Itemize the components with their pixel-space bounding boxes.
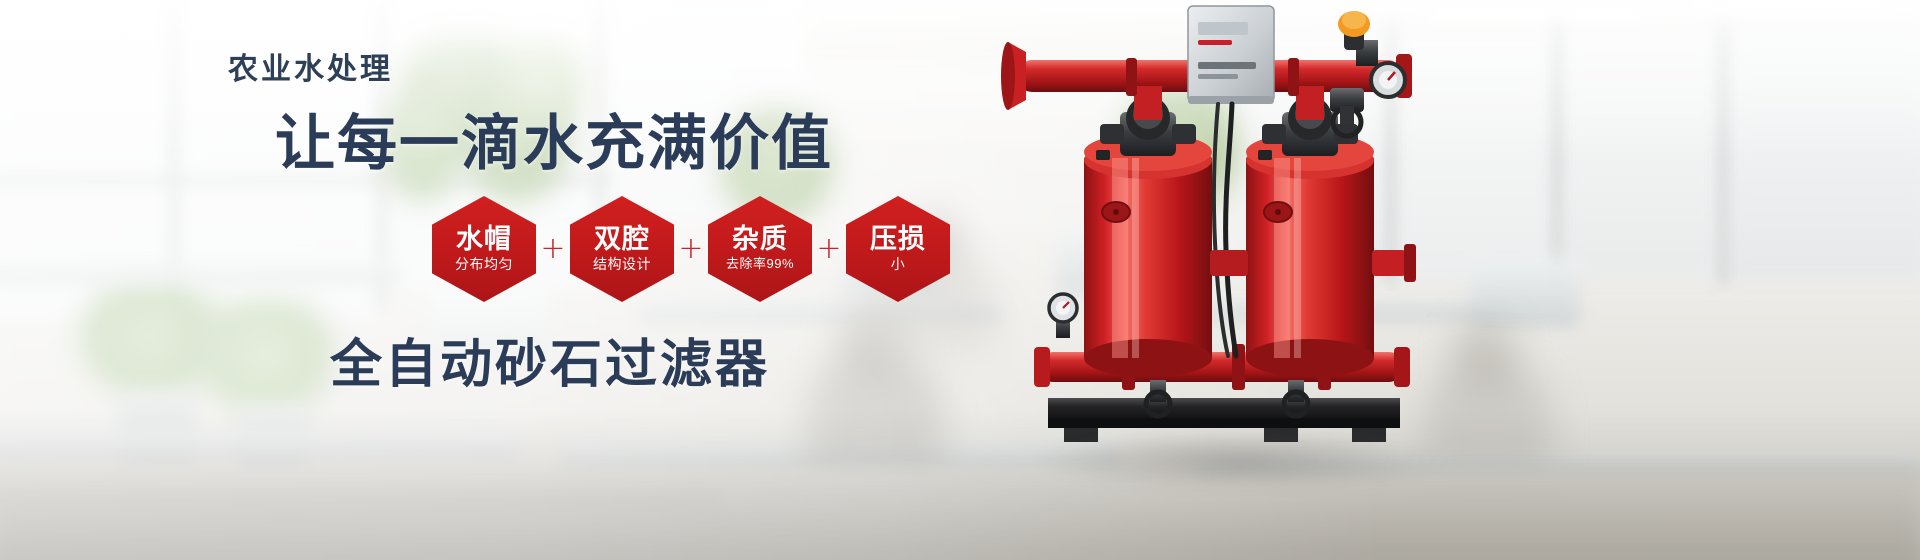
feature-badge-row: 水帽 分布均匀 + 双腔 结构设计 + 杂质 去除率99% + 压损 小 xyxy=(432,196,950,302)
tank-clamp xyxy=(1258,150,1272,160)
plus-separator-icon-3: + xyxy=(812,234,846,264)
badge-title: 杂质 xyxy=(732,225,788,253)
banner-headline: 让每一滴水充满价值 xyxy=(275,95,833,182)
badge-title: 双腔 xyxy=(594,225,650,253)
badge-title: 水帽 xyxy=(456,225,512,253)
side-outlet-nozzle-left xyxy=(1210,250,1248,276)
filter-tank-right xyxy=(1246,133,1374,377)
badge-subtitle: 分布均匀 xyxy=(455,256,513,274)
feature-badge-2: 双腔 结构设计 xyxy=(570,196,674,302)
badge-subtitle: 小 xyxy=(891,256,906,274)
feature-badge-1: 水帽 分布均匀 xyxy=(432,196,536,302)
side-outlet-nozzle xyxy=(1372,244,1416,282)
badge-subtitle: 结构设计 xyxy=(593,256,651,274)
plus-separator-icon-1: + xyxy=(536,234,570,264)
plus-separator-icon-2: + xyxy=(674,234,708,264)
tank-clamp xyxy=(1096,150,1110,160)
feature-badge-3: 杂质 去除率99% xyxy=(708,196,812,302)
filter-tank-left xyxy=(1084,133,1212,377)
feature-badge-4: 压损 小 xyxy=(846,196,950,302)
pressure-gauge-left xyxy=(1049,294,1077,338)
promo-banner: 农业水处理 让每一滴水充满价值 全自动砂石过滤器 水帽 分布均匀 + 双腔 结构… xyxy=(0,0,1920,560)
banner-eyebrow: 农业水处理 xyxy=(228,44,393,88)
banner-subtitle: 全自动砂石过滤器 xyxy=(330,322,770,397)
controller-box xyxy=(1188,6,1274,104)
sand-filter-machine-image xyxy=(1000,0,1520,560)
badge-title: 压损 xyxy=(870,225,926,253)
badge-subtitle: 去除率99% xyxy=(726,256,794,272)
